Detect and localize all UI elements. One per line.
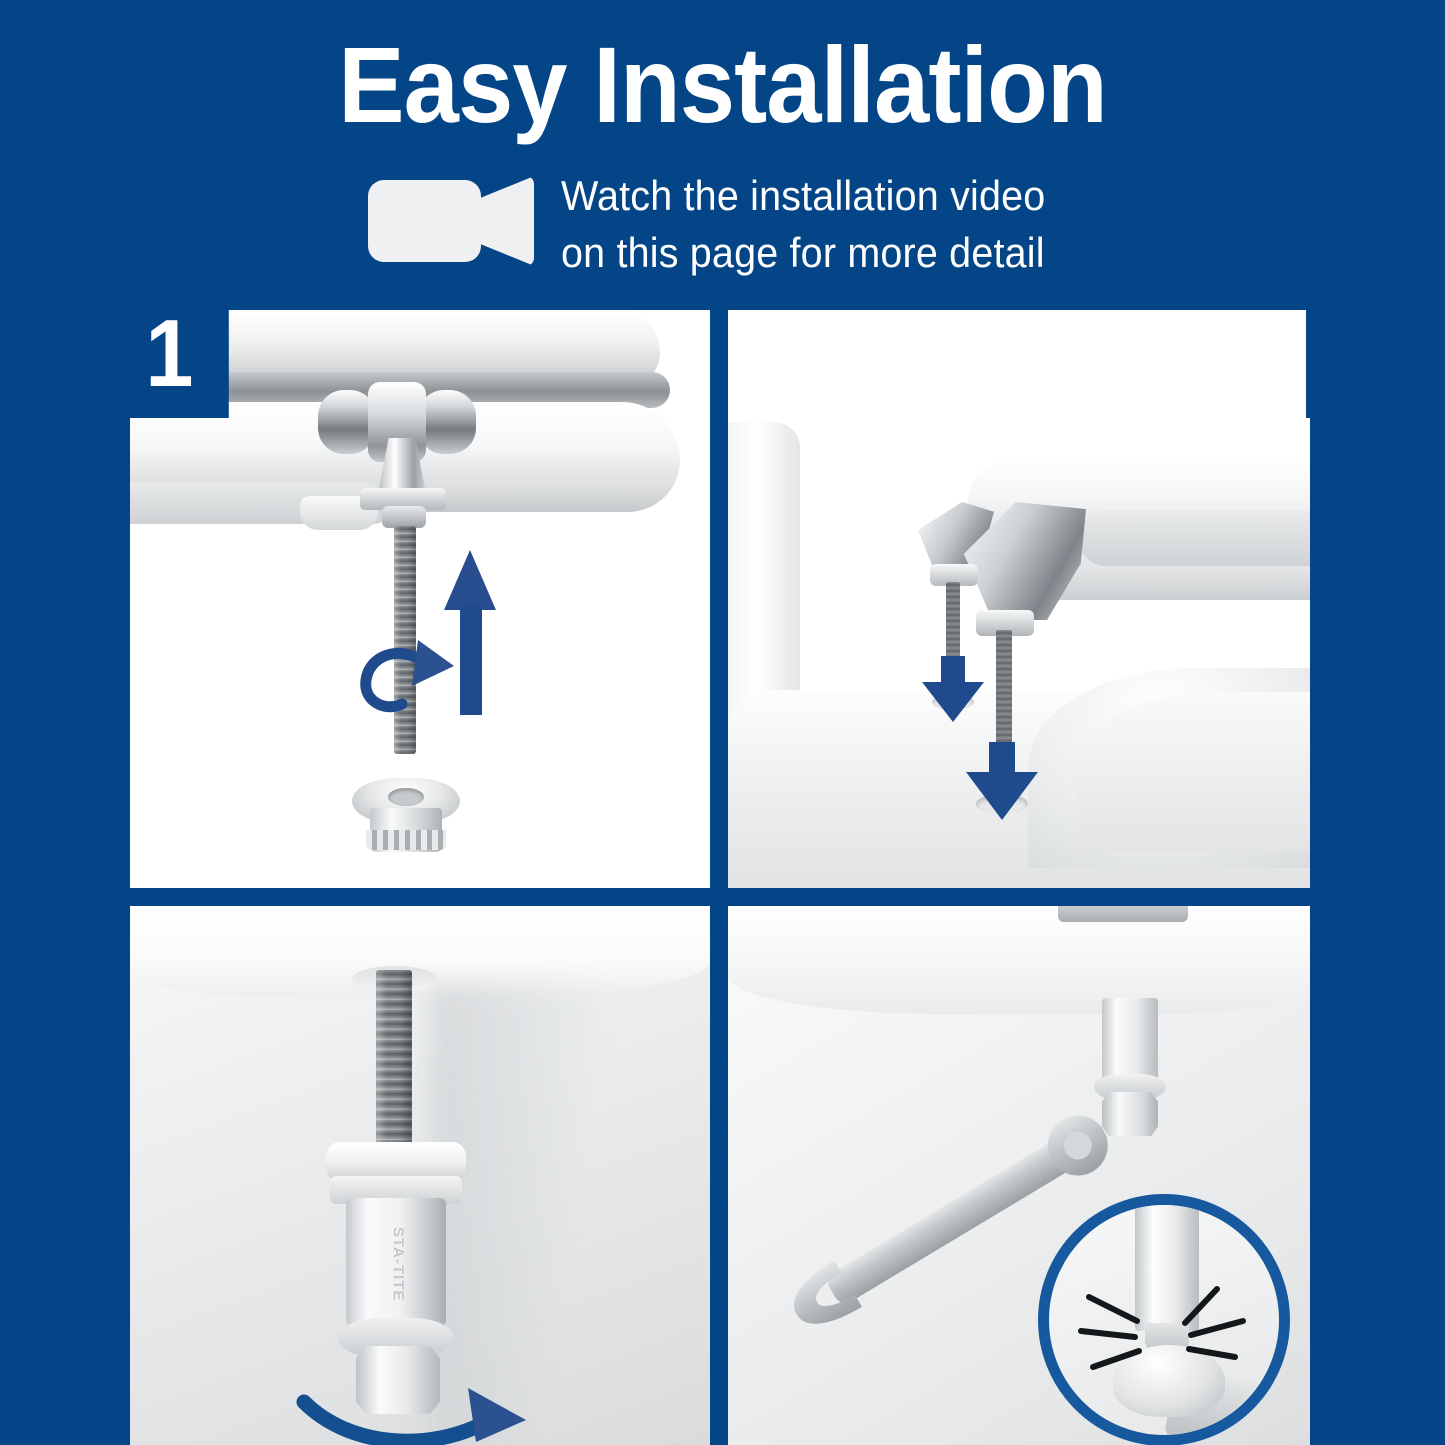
down-arrow-icon-left: [922, 656, 984, 722]
retainer-nut-teeth: [366, 830, 446, 850]
video-camera-body: [368, 180, 481, 262]
subtitle-text: Watch the installation video on this pag…: [561, 168, 1045, 281]
step-4-illustration: [728, 906, 1310, 1445]
step-panel-3: STA-TITE 3: [130, 906, 710, 1445]
down-arrow-shaft-right: [989, 742, 1015, 774]
down-arrow-icon-right: [966, 742, 1038, 820]
poster-root: Easy Installation Watch the installation…: [0, 0, 1445, 1445]
down-arrow-shaft-left: [941, 656, 965, 684]
hinge-top-visible: [1058, 906, 1188, 922]
retainer-washer-hole: [388, 788, 424, 806]
down-arrow-head-right: [966, 772, 1038, 820]
header: Easy Installation Watch the installation…: [0, 0, 1445, 300]
step-panel-2: 2: [728, 310, 1310, 888]
step-2-illustration: [728, 310, 1310, 888]
rotate-arrow-icon: [350, 630, 460, 720]
video-camera-icon: [368, 174, 533, 266]
installation-steps-grid: 1: [130, 310, 1310, 1445]
rotate-arrow-icon: [290, 1376, 550, 1445]
step-3-illustration: STA-TITE: [130, 906, 710, 1445]
step-badge-2: 2: [1306, 310, 1310, 418]
click-detail-inset: [1038, 1194, 1290, 1445]
page-title: Easy Installation: [58, 26, 1387, 145]
hinge-washer: [382, 506, 426, 528]
nut-shank: [1102, 998, 1158, 1082]
up-arrow-shaft: [460, 606, 482, 715]
hinge-barrel-right: [418, 390, 476, 454]
step-badge-1: 1: [130, 310, 229, 418]
step-panel-1: 1: [130, 310, 710, 888]
down-arrow-head-left: [922, 682, 984, 722]
video-camera-lens: [472, 176, 534, 266]
bowl-underside: [728, 906, 1310, 1014]
subtitle-row: Watch the installation video on this pag…: [0, 168, 1445, 281]
threaded-bolt: [376, 970, 412, 1152]
step-panel-4: 4: [728, 906, 1310, 1445]
up-arrow-head: [444, 550, 496, 610]
click-burst-icon: [1049, 1205, 1290, 1445]
toilet-seat-ring-inner: [1078, 510, 1310, 566]
nut-brand-label: STA-TITE: [378, 1218, 418, 1310]
